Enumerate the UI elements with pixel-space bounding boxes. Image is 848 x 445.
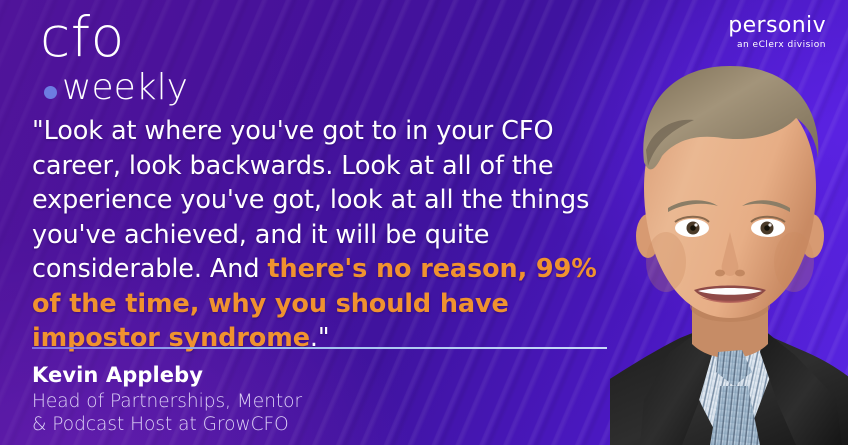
attribution: Kevin Appleby Head of Partnerships, Ment…: [32, 362, 592, 436]
speaker-name: Kevin Appleby: [32, 362, 592, 388]
logo-dot-icon: [44, 86, 57, 99]
speaker-portrait: [610, 0, 848, 445]
logo-word-weekly: weekly: [62, 70, 188, 106]
quote-text: "Look at where you've got to in your CFO…: [32, 114, 612, 356]
speaker-role-line2: & Podcast Host at GrowCFO: [32, 414, 592, 437]
quote-card: cfo weekly personiv an eClerx division "…: [0, 0, 848, 445]
cfo-weekly-logo[interactable]: cfo weekly: [40, 14, 240, 100]
divider: [32, 347, 607, 349]
speaker-role-line1: Head of Partnerships, Mentor: [32, 391, 592, 414]
quote-open-mark: ": [32, 116, 44, 146]
speaker-role: Head of Partnerships, Mentor & Podcast H…: [32, 391, 592, 436]
logo-word-cfo: cfo: [40, 10, 125, 65]
